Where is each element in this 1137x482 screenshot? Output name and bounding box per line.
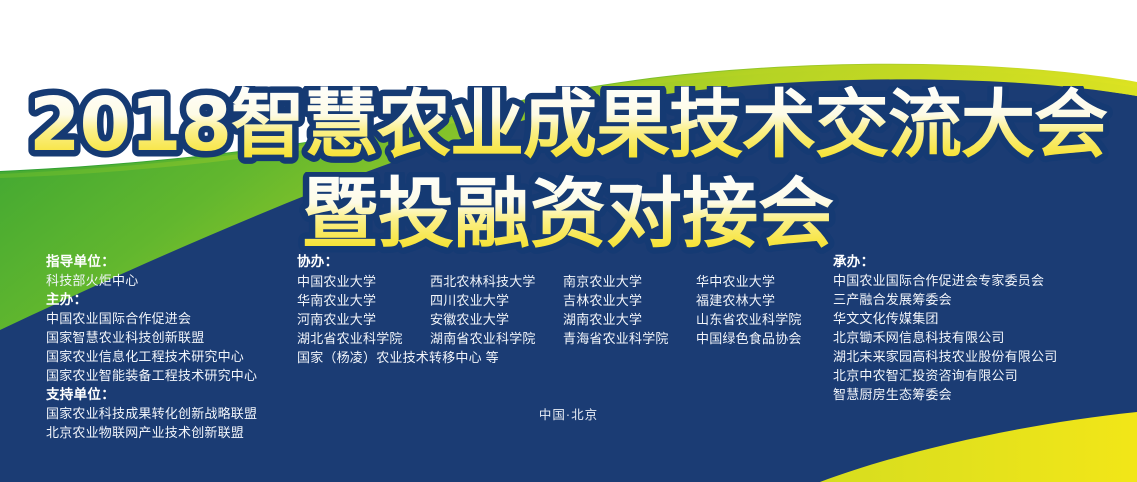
co-organizer-item: 福建农林大学 (696, 291, 816, 310)
undertaker-heading: 承办： (833, 252, 1133, 271)
co-organizer-item: 安徽农业大学 (430, 310, 563, 329)
co-organizer-item: 青海省农业科学院 (563, 329, 696, 348)
host-heading: 主办： (46, 290, 296, 309)
conference-banner: 2018智慧农业成果技术交流大会 2018智慧农业成果技术交流大会 暨投融资对接… (0, 0, 1137, 482)
co-organizer-item: 山东省农业科学院 (696, 310, 816, 329)
co-organizer-item: 四川农业大学 (430, 291, 563, 310)
co-organizer-item: 西北农林科技大学 (430, 272, 563, 291)
undertaker-item: 华文文化传媒集团 (833, 309, 1133, 328)
guide-unit-item: 科技部火炬中心 (46, 271, 296, 290)
host-item: 国家农业信息化工程技术研究中心 (46, 347, 296, 366)
co-organizer-item: 河南农业大学 (297, 310, 430, 329)
support-unit-heading: 支持单位： (46, 385, 296, 404)
co-organizer-item: 吉林农业大学 (563, 291, 696, 310)
co-organizer-item: 南京农业大学 (563, 272, 696, 291)
undertaker-item: 智慧厨房生态筹委会 (833, 385, 1133, 404)
host-item: 国家智慧农业科技创新联盟 (46, 328, 296, 347)
co-organizer-heading: 协办： (297, 252, 817, 271)
co-organizer-item: 湖南省农业科学院 (430, 329, 563, 348)
undertaker-item: 北京锄禾网信息科技有限公司 (833, 328, 1133, 347)
co-organizer-item: 中国农业大学 (297, 272, 430, 291)
host-item: 中国农业国际合作促进会 (46, 309, 296, 328)
co-organizer-tail: 国家（杨凌）农业技术转移中心 等 (297, 348, 817, 367)
co-organizer-item: 湖北省农业科学院 (297, 329, 430, 348)
co-organizer-item: 湖南农业大学 (563, 310, 696, 329)
undertaker-item: 北京中农智汇投资咨询有限公司 (833, 366, 1133, 385)
host-item: 国家农业智能装备工程技术研究中心 (46, 366, 296, 385)
support-unit-item: 北京农业物联网产业技术创新联盟 (46, 423, 296, 442)
co-organizer-item: 华南农业大学 (297, 291, 430, 310)
middle-organizer-column: 协办： 中国农业大学 西北农林科技大学 南京农业大学 华中农业大学 华南农业大学… (297, 252, 817, 367)
undertaker-item: 中国农业国际合作促进会专家委员会 (833, 271, 1133, 290)
undertaker-item: 湖北未来家园高科技农业股份有限公司 (833, 347, 1133, 366)
co-organizer-item: 中国绿色食品协会 (696, 329, 816, 348)
undertaker-item: 三产融合发展筹委会 (833, 290, 1133, 309)
co-organizer-grid: 中国农业大学 西北农林科技大学 南京农业大学 华中农业大学 华南农业大学 四川农… (297, 272, 817, 348)
organizer-info: 指导单位： 科技部火炬中心 主办： 中国农业国际合作促进会 国家智慧农业科技创新… (0, 252, 1137, 482)
city-label: 中国·北京 (0, 404, 1137, 423)
co-organizer-item: 华中农业大学 (696, 272, 816, 291)
right-organizer-column: 承办： 中国农业国际合作促进会专家委员会 三产融合发展筹委会 华文文化传媒集团 … (833, 252, 1133, 404)
guide-unit-heading: 指导单位： (46, 252, 296, 271)
